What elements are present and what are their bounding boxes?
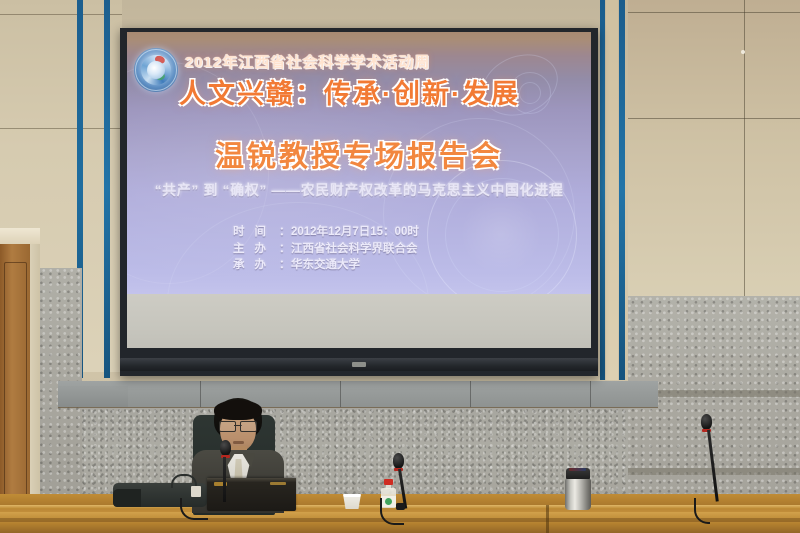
logo-rim xyxy=(135,49,177,91)
slide-meta-colon: ： xyxy=(279,241,291,258)
slide-meta-value: 2012年12月7日15：00时 xyxy=(291,224,419,241)
slide-meta-value: 江西省社会科学界联合会 xyxy=(291,241,418,258)
slide-meta-colon: ： xyxy=(279,224,291,241)
wall-stripe-right-outer xyxy=(619,0,625,380)
slide-meta-key: 时间 xyxy=(233,224,279,241)
slide-meta-row: 承办 ： 华东交通大学 xyxy=(233,257,419,274)
event-logo-icon xyxy=(134,48,178,92)
mic-cable-center xyxy=(380,498,404,525)
right-wall-panel xyxy=(628,0,800,300)
wall-stripe-left-inner xyxy=(104,0,110,378)
slide-theme: 人文兴赣：传承·创新·发展 xyxy=(179,72,520,111)
hair-fringe xyxy=(214,400,262,420)
slide-meta-row: 主办 ： 江西省社会科学界联合会 xyxy=(233,241,419,258)
slide-meta-row: 时间 ： 2012年12月7日15：00时 xyxy=(233,224,419,241)
wooden-door[interactable] xyxy=(0,244,30,533)
slide-subtitle: “共产” 到 “确权” ——农民财产权改革的马克思主义中国化进程 xyxy=(127,180,591,200)
projection-screen: 2012年江西省社会科学学术活动周 人文兴赣：传承·创新·发展 温锐教授专场报告… xyxy=(120,28,598,376)
mic-cable-left xyxy=(180,498,208,520)
mic-head-icon xyxy=(393,453,404,469)
screen-weight-bar xyxy=(120,358,598,371)
mic-head-icon xyxy=(220,440,231,456)
microphone-left xyxy=(212,440,236,502)
laptop-sticker-right xyxy=(270,482,286,485)
screen-fascia-band-left xyxy=(58,386,128,407)
slide-meta-value: 华东交通大学 xyxy=(291,257,360,274)
wall-marker xyxy=(741,50,745,54)
mic-head-icon xyxy=(701,414,712,430)
screen-fascia-band xyxy=(58,381,658,407)
microphone-right xyxy=(698,414,722,504)
wall-stripe-right-inner xyxy=(600,0,605,380)
bag-luggage-tag xyxy=(191,486,201,497)
slide-meta-key: 承办 xyxy=(233,257,279,274)
slide-meta-colon: ： xyxy=(279,257,291,274)
desk-seam xyxy=(546,505,549,533)
door-panel xyxy=(4,262,27,504)
slide-meta-key: 主办 xyxy=(233,241,279,258)
door-header xyxy=(0,228,40,244)
presentation-slide: 2012年江西省社会科学学术活动周 人文兴赣：传承·创新·发展 温锐教授专场报告… xyxy=(127,32,591,294)
wall-column-right xyxy=(606,0,618,380)
lecture-hall-photo: 2012年江西省社会科学学术活动周 人文兴赣：传承·创新·发展 温锐教授专场报告… xyxy=(0,0,800,533)
vacuum-flask[interactable] xyxy=(565,468,591,510)
projection-surface: 2012年江西省社会科学学术活动周 人文兴赣：传承·创新·发展 温锐教授专场报告… xyxy=(127,32,591,348)
screen-pull-knob[interactable] xyxy=(352,362,366,367)
slide-eyebrow: 2012年江西省社会科学学术活动周 xyxy=(185,51,430,72)
paper-cup[interactable] xyxy=(343,494,361,509)
slide-title: 温锐教授专场报告会 xyxy=(127,133,591,175)
glasses-icon xyxy=(219,421,257,430)
screen-blank-area xyxy=(127,294,591,348)
slide-meta-block: 时间 ： 2012年12月7日15：00时 主办 ： 江西省社会科学界联合会 承… xyxy=(233,224,419,274)
